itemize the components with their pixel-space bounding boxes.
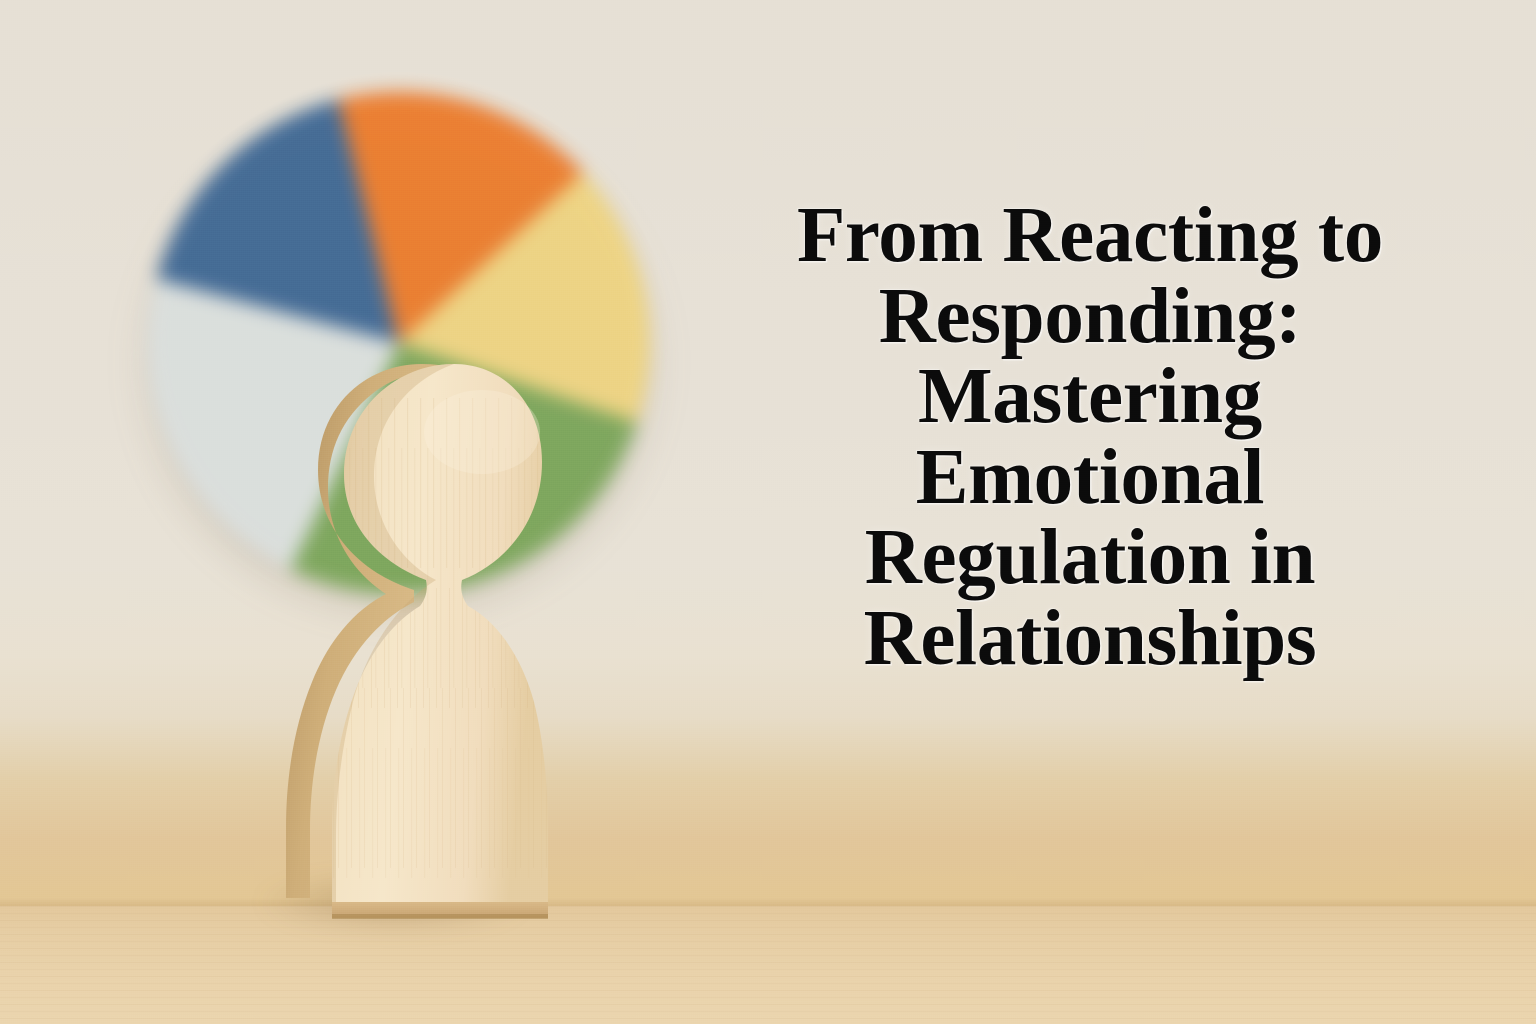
title-line-4: Emotional bbox=[690, 438, 1490, 519]
wooden-person-svg bbox=[236, 358, 548, 924]
title-line-3: Mastering bbox=[690, 357, 1490, 438]
figure-base-contact-line bbox=[332, 914, 548, 919]
title-line-5: Regulation in bbox=[690, 518, 1490, 599]
figure-head-highlight bbox=[424, 390, 540, 474]
wooden-person-figure bbox=[236, 358, 548, 924]
title-line-1: From Reacting to bbox=[690, 196, 1490, 277]
page-title: From Reacting to Responding: Mastering E… bbox=[690, 196, 1490, 679]
title-line-6: Relationships bbox=[690, 599, 1490, 680]
title-line-2: Responding: bbox=[690, 277, 1490, 358]
title-card: From Reacting to Responding: Mastering E… bbox=[0, 0, 1536, 1024]
